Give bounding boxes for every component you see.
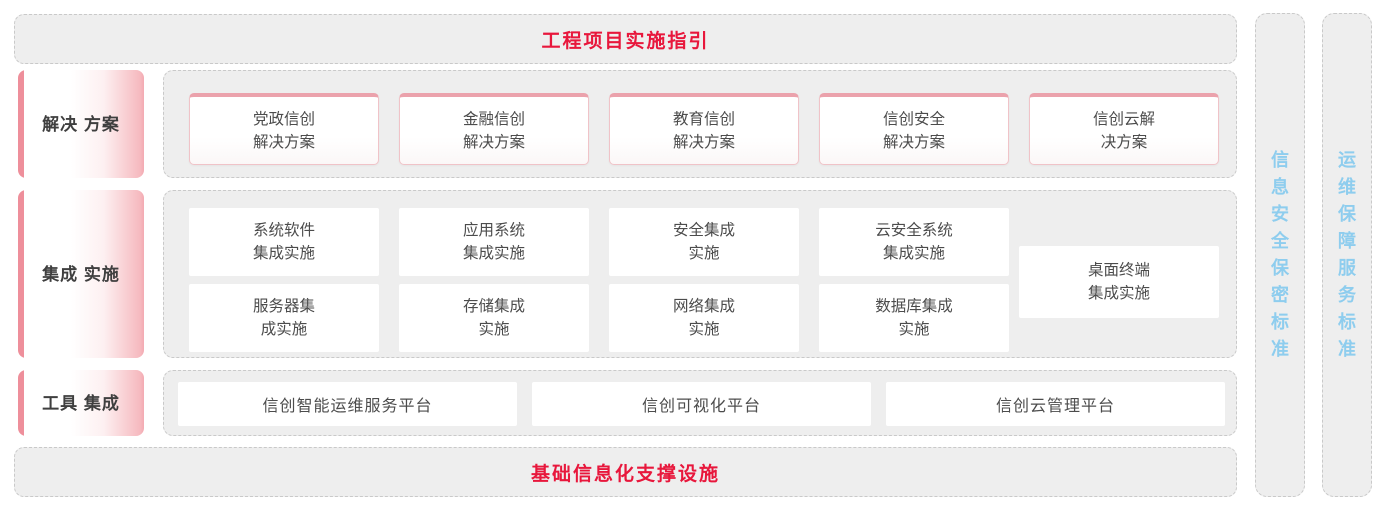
integration-card[interactable]: 系统软件 集成实施	[189, 208, 379, 276]
solution-card[interactable]: 信创云解 决方案	[1029, 93, 1219, 165]
integration-card-label: 云安全系统 集成实施	[875, 219, 953, 265]
integration-card-label: 桌面终端 集成实施	[1088, 259, 1150, 305]
category-label-solution: 解决 方案	[42, 112, 120, 137]
tool-card[interactable]: 信创可视化平台	[532, 382, 871, 426]
integration-card[interactable]: 应用系统 集成实施	[399, 208, 589, 276]
solution-card-label: 金融信创 解决方案	[463, 108, 525, 154]
integration-card-label: 存储集成 实施	[463, 295, 525, 341]
footer-title: 基础信息化支撑设施	[531, 459, 720, 486]
tool-card[interactable]: 信创智能运维服务平台	[178, 382, 517, 426]
side-panel-label-security: 信息安全保密标准	[1268, 147, 1292, 363]
solution-card[interactable]: 党政信创 解决方案	[189, 93, 379, 165]
category-label-integration: 集成 实施	[42, 262, 120, 287]
integration-card[interactable]: 服务器集 成实施	[189, 284, 379, 352]
integration-card-desktop-terminal[interactable]: 桌面终端 集成实施	[1019, 246, 1219, 318]
integration-card[interactable]: 云安全系统 集成实施	[819, 208, 1009, 276]
integration-card-label: 服务器集 成实施	[253, 295, 315, 341]
integration-card[interactable]: 存储集成 实施	[399, 284, 589, 352]
solution-card-label: 信创云解 决方案	[1093, 108, 1155, 154]
integration-card-label: 安全集成 实施	[673, 219, 735, 265]
side-panel-label-ops: 运维保障服务标准	[1335, 147, 1359, 363]
category-chip-tools[interactable]: 工具 集成	[18, 370, 144, 436]
tool-card-label: 信创智能运维服务平台	[262, 392, 432, 416]
tool-card-label: 信创可视化平台	[642, 392, 761, 416]
integration-card[interactable]: 网络集成 实施	[609, 284, 799, 352]
integration-card-label: 网络集成 实施	[673, 295, 735, 341]
solution-card[interactable]: 教育信创 解决方案	[609, 93, 799, 165]
side-panel-security-standard[interactable]: 信息安全保密标准	[1255, 13, 1305, 497]
category-chip-integration[interactable]: 集成 实施	[18, 190, 144, 358]
page-title: 工程项目实施指引	[541, 26, 709, 53]
solutions-panel: 党政信创 解决方案 金融信创 解决方案 教育信创 解决方案 信创安全 解决方案 …	[163, 70, 1237, 178]
tool-card-label: 信创云管理平台	[996, 392, 1115, 416]
header-banner: 工程项目实施指引	[14, 14, 1237, 64]
solution-card-label: 信创安全 解决方案	[883, 108, 945, 154]
integration-card-label: 数据库集成 实施	[875, 295, 953, 341]
solution-card[interactable]: 信创安全 解决方案	[819, 93, 1009, 165]
footer-banner: 基础信息化支撑设施	[14, 447, 1237, 497]
side-panel-ops-standard[interactable]: 运维保障服务标准	[1322, 13, 1372, 497]
category-label-tools: 工具 集成	[42, 391, 120, 416]
diagram-root: 工程项目实施指引 解决 方案 集成 实施 工具 集成 党政信创 解决方案 金融信…	[0, 0, 1390, 515]
integration-card-label: 应用系统 集成实施	[463, 219, 525, 265]
integration-panel: 系统软件 集成实施 应用系统 集成实施 安全集成 实施 云安全系统 集成实施 服…	[163, 190, 1237, 358]
integration-card-label: 系统软件 集成实施	[253, 219, 315, 265]
category-chip-solution[interactable]: 解决 方案	[18, 70, 144, 178]
integration-card[interactable]: 安全集成 实施	[609, 208, 799, 276]
tool-card[interactable]: 信创云管理平台	[886, 382, 1225, 426]
integration-card[interactable]: 数据库集成 实施	[819, 284, 1009, 352]
solution-card[interactable]: 金融信创 解决方案	[399, 93, 589, 165]
tools-panel: 信创智能运维服务平台 信创可视化平台 信创云管理平台	[163, 370, 1237, 436]
solution-card-label: 教育信创 解决方案	[673, 108, 735, 154]
solution-card-label: 党政信创 解决方案	[253, 108, 315, 154]
